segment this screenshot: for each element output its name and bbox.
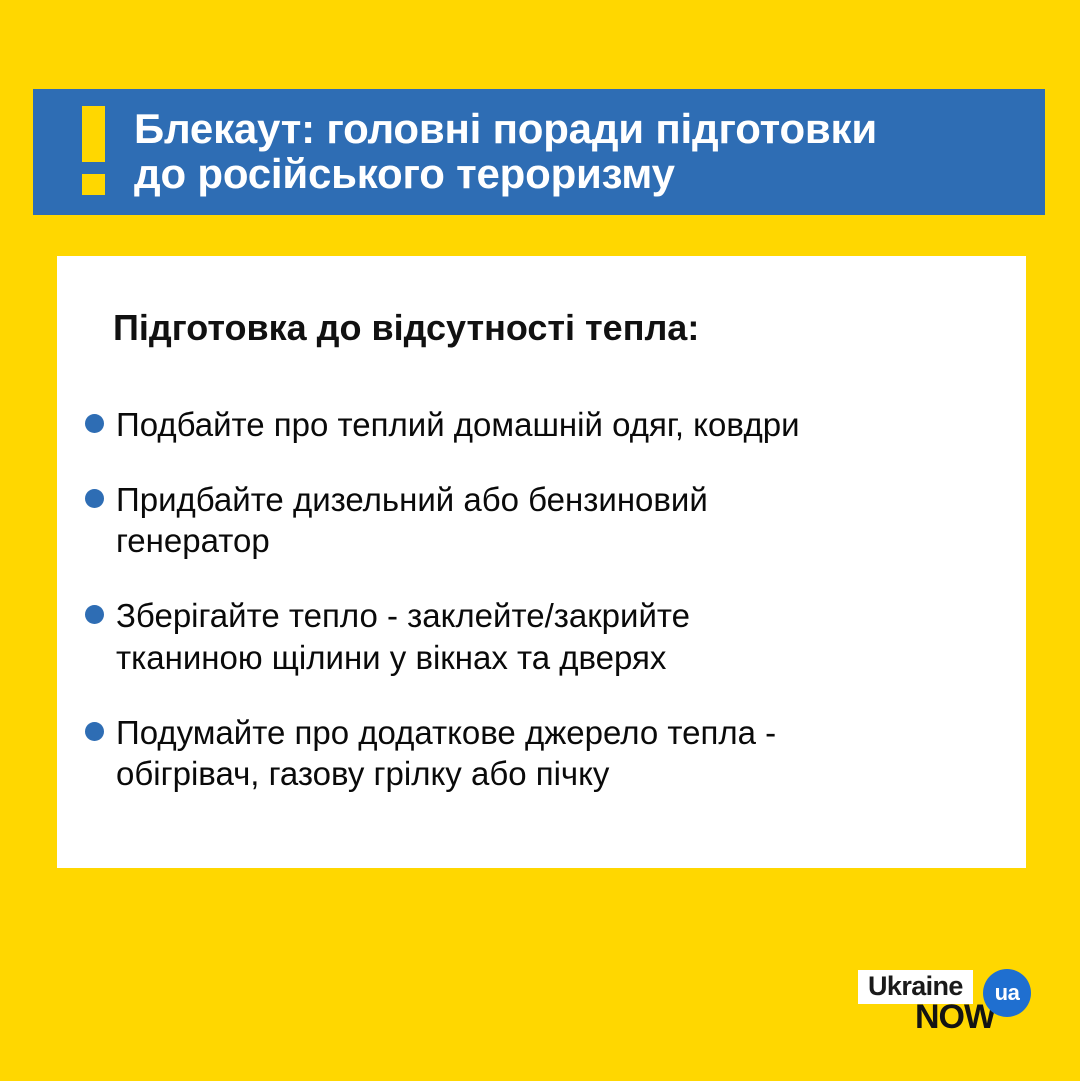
list-item: Зберігайте тепло - заклейте/закрийте тка… [85, 595, 982, 678]
exclamation-bar [82, 106, 105, 162]
list-item-text: Подумайте про додаткове джерело тепла - … [116, 712, 776, 795]
list-item-text: Зберігайте тепло - заклейте/закрийте тка… [116, 595, 690, 678]
exclamation-mark-icon [65, 106, 121, 198]
logo-ukraine-text: Ukraine [868, 973, 963, 1000]
list-item-text: Придбайте дизельний або бензиновий генер… [116, 479, 708, 562]
logo-now-text: NOW [915, 1000, 995, 1034]
header-banner: Блекаут: головні поради підготовки до ро… [33, 89, 1045, 215]
logo-ua-badge-icon: ua [983, 969, 1031, 1017]
bullet-dot-icon [85, 489, 104, 508]
list-item: Придбайте дизельний або бензиновий генер… [85, 479, 982, 562]
logo-ua-text: ua [995, 982, 1020, 1004]
list-item: Подумайте про додаткове джерело тепла - … [85, 712, 982, 795]
bullet-dot-icon [85, 722, 104, 741]
tips-list: Подбайте про теплий домашній одяг, ковдр… [85, 404, 982, 795]
page-title: Блекаут: головні поради підготовки до ро… [134, 106, 877, 197]
bullet-dot-icon [85, 414, 104, 433]
exclamation-dot [82, 174, 105, 195]
list-item-text: Подбайте про теплий домашній одяг, ковдр… [116, 404, 800, 445]
list-item: Подбайте про теплий домашній одяг, ковдр… [85, 404, 982, 445]
ukraine-now-logo: Ukraine NOW ua [852, 962, 1048, 1040]
section-heading: Підготовка до відсутності тепла: [113, 308, 982, 348]
bullet-dot-icon [85, 605, 104, 624]
content-card: Підготовка до відсутності тепла: Подбайт… [57, 256, 1026, 868]
